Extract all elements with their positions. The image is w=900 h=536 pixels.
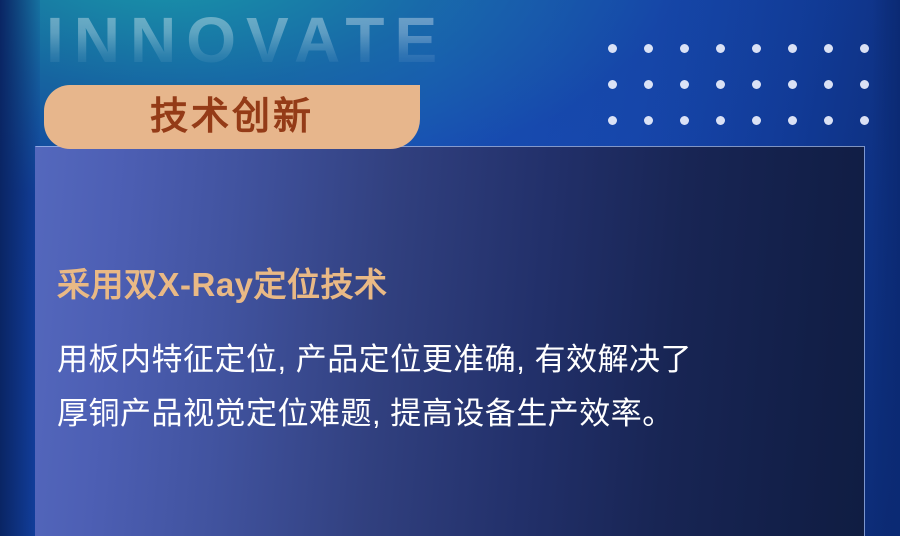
grid-dot — [860, 116, 869, 125]
grid-dot — [824, 80, 833, 89]
grid-dot — [752, 116, 761, 125]
slide-canvas: INNOVATE 技术创新 采用双X-Ray定位技术 用板内特征定位, 产品定位… — [0, 0, 900, 536]
grid-dot — [680, 116, 689, 125]
grid-dot — [680, 44, 689, 53]
grid-dot — [752, 80, 761, 89]
grid-dot — [608, 116, 617, 125]
left-edge-shade — [0, 0, 40, 536]
grid-dot — [644, 116, 653, 125]
panel-content: 采用双X-Ray定位技术 用板内特征定位, 产品定位更准确, 有效解决了 厚铜产… — [57, 265, 857, 441]
section-badge: 技术创新 — [44, 85, 420, 149]
grid-dot — [788, 44, 797, 53]
dot-grid-decoration — [608, 44, 896, 152]
grid-dot — [644, 44, 653, 53]
grid-dot — [788, 116, 797, 125]
grid-dot — [752, 44, 761, 53]
grid-dot — [788, 80, 797, 89]
panel-body-line-1: 用板内特征定位, 产品定位更准确, 有效解决了 — [57, 333, 857, 387]
grid-dot — [716, 44, 725, 53]
grid-dot — [860, 80, 869, 89]
grid-dot — [608, 80, 617, 89]
grid-dot — [644, 80, 653, 89]
grid-dot — [716, 116, 725, 125]
section-badge-label: 技术创新 — [150, 98, 314, 136]
panel-headline: 采用双X-Ray定位技术 — [57, 265, 857, 305]
grid-dot — [860, 44, 869, 53]
grid-dot — [716, 80, 725, 89]
grid-dot — [824, 44, 833, 53]
grid-dot — [608, 44, 617, 53]
grid-dot — [680, 80, 689, 89]
innovate-watermark: INNOVATE — [46, 8, 447, 72]
panel-body-line-2: 厚铜产品视觉定位难题, 提高设备生产效率。 — [57, 387, 857, 441]
grid-dot — [824, 116, 833, 125]
